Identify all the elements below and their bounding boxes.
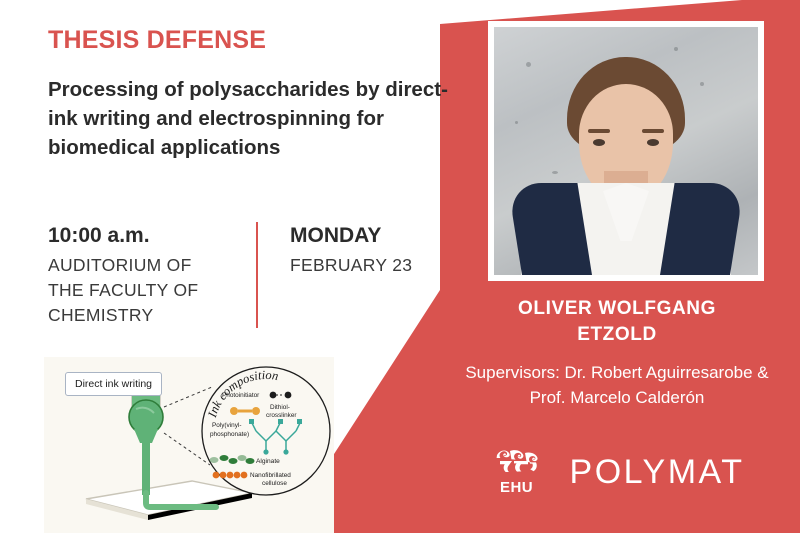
venue-line-3: CHEMISTRY: [48, 303, 248, 328]
speaker-name-line-2: ETZOLD: [452, 322, 782, 348]
label-dithiol-2: crosslinker: [266, 412, 297, 419]
label-photoinitiator: Photoinitiator: [222, 392, 260, 399]
avatar: [494, 27, 758, 275]
ehu-logo: EHU: [490, 448, 544, 495]
label-nfc-2: cellulose: [262, 480, 287, 487]
ehu-emblem-icon: [494, 448, 540, 478]
speaker-block: OLIVER WOLFGANG ETZOLD Supervisors: Dr. …: [452, 296, 782, 411]
figure-caption: Direct ink writing: [65, 372, 162, 396]
ehu-wordmark: EHU: [490, 480, 544, 495]
venue-line-2: THE FACULTY OF: [48, 278, 248, 303]
poster-canvas: THESIS DEFENSE Processing of polysacchar…: [0, 0, 800, 533]
event-weekday: MONDAY: [290, 222, 448, 250]
event-date: FEBRUARY 23: [290, 253, 448, 278]
logo-row: EHU POLYMAT: [452, 448, 782, 495]
venue-line-1: AUDITORIUM OF: [48, 253, 248, 278]
speaker-supervisors: Supervisors: Dr. Robert Aguirresarobe & …: [452, 361, 782, 410]
date-block: MONDAY FEBRUARY 23: [258, 222, 448, 278]
headline-block: THESIS DEFENSE Processing of polysacchar…: [48, 26, 468, 162]
speaker-name-line-1: OLIVER WOLFGANG: [452, 296, 782, 322]
event-time: 10:00 a.m.: [48, 222, 248, 250]
research-figure: Ink composition Photoinitiator Dithiol- …: [44, 357, 334, 533]
page-title: Processing of polysaccharides by direct-…: [48, 75, 466, 162]
speaker-photo-frame: [488, 21, 764, 281]
event-meta-row: 10:00 a.m. AUDITORIUM OF THE FACULTY OF …: [48, 222, 448, 328]
speaker-name: OLIVER WOLFGANG ETZOLD: [452, 296, 782, 348]
label-pvp-2: phosphonate): [210, 431, 249, 438]
label-alginate: Alginate: [256, 458, 280, 465]
label-nfc-1: Nanofibrillated: [250, 472, 291, 479]
kicker-label: THESIS DEFENSE: [48, 26, 468, 55]
event-venue: AUDITORIUM OF THE FACULTY OF CHEMISTRY: [48, 253, 248, 328]
polymat-wordmark: POLYMAT: [570, 455, 745, 489]
label-dithiol-1: Dithiol-: [270, 404, 290, 411]
time-venue-block: 10:00 a.m. AUDITORIUM OF THE FACULTY OF …: [48, 222, 248, 328]
label-pvp-1: Poly(vinyl-: [212, 422, 241, 429]
